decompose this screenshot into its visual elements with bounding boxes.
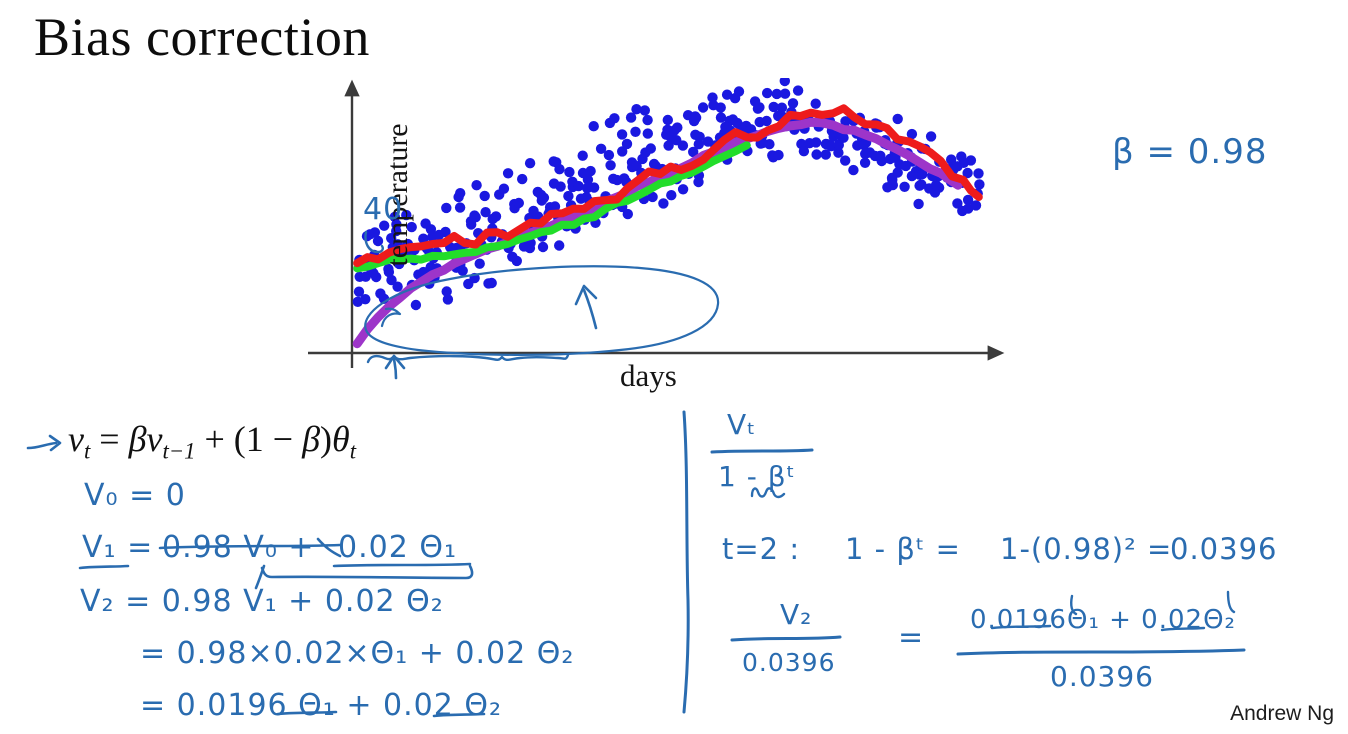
hand-final-lhs-denominator: 0.0396 xyxy=(742,648,835,677)
scatter-point xyxy=(619,173,629,183)
scatter-point xyxy=(693,177,703,187)
scatter-point xyxy=(585,166,595,176)
scatter-point xyxy=(537,195,547,205)
fraction-bar-vt xyxy=(712,450,812,452)
scatter-point xyxy=(499,184,509,194)
hand-final-rhs-denominator: 0.0396 xyxy=(1050,660,1154,693)
scatter-point xyxy=(517,174,527,184)
strikethrough-plus xyxy=(318,539,340,556)
scatter-point xyxy=(643,128,653,138)
scatter-point xyxy=(578,151,588,161)
hand-frac-vt-numerator: Vₜ xyxy=(727,408,756,441)
scatter-point xyxy=(728,114,738,124)
scatter-point xyxy=(698,102,708,112)
scatter-point xyxy=(811,149,821,159)
scatter-point xyxy=(761,116,771,126)
annotation-v-zero-label: 40 xyxy=(363,192,403,227)
scatter-point xyxy=(860,149,870,159)
scatter-point xyxy=(453,192,463,202)
scatter-point xyxy=(609,113,619,123)
hand-line-v1-struck-term: 0.98 V₀ + xyxy=(162,530,315,565)
scatter-point xyxy=(622,139,632,149)
scatter-point xyxy=(753,104,763,114)
hand-line-v2-expanded: = 0.98×0.02×Θ₁ + 0.02 Θ₂ xyxy=(140,636,574,671)
scatter-point xyxy=(788,98,798,108)
scatter-point xyxy=(443,294,453,304)
scatter-point xyxy=(899,182,909,192)
scatter-point xyxy=(678,140,688,150)
scatter-point xyxy=(793,85,803,95)
scatter-point xyxy=(455,202,465,212)
scatter-point xyxy=(780,78,790,86)
scatter-point xyxy=(642,115,652,125)
formula-text: vt = βvt−1 + (1 − β)θt xyxy=(68,419,356,459)
scatter-point xyxy=(971,200,981,210)
scatter-point xyxy=(678,184,688,194)
scatter-point xyxy=(914,181,924,191)
scatter-point xyxy=(360,294,370,304)
scatter-point xyxy=(859,140,869,150)
scatter-point xyxy=(875,151,885,161)
scatter-point xyxy=(514,198,524,208)
scatter-point xyxy=(931,180,941,190)
hand-line-v0: V₀ = 0 xyxy=(84,478,186,513)
hand-line-v1-lhs: V₁ = xyxy=(82,530,153,565)
scatter-point xyxy=(466,216,476,226)
scatter-point xyxy=(617,129,627,139)
scatter-point xyxy=(491,211,501,221)
scatter-point xyxy=(487,278,497,288)
fraction-bar-v2 xyxy=(732,637,840,640)
hand-line-v2: V₂ = 0.98 V₁ + 0.02 Θ₂ xyxy=(80,584,444,619)
fraction-bar-final xyxy=(958,650,1244,654)
scatter-point xyxy=(563,191,573,201)
annotation-v-zero-squiggle-icon xyxy=(360,228,400,262)
scatter-point xyxy=(512,256,522,266)
annotation-beta-value: β = 0.98 xyxy=(1112,132,1268,172)
scatter-point xyxy=(658,198,668,208)
vertical-divider xyxy=(684,412,688,712)
scatter-point xyxy=(893,114,903,124)
scatter-point xyxy=(475,259,485,269)
scatter-point xyxy=(555,181,565,191)
page-title: Bias correction xyxy=(34,6,370,68)
hand-t-case-label: t=2 : xyxy=(722,532,800,566)
slide-canvas: Bias correction temperature days xyxy=(0,0,1348,734)
scatter-point xyxy=(480,191,490,201)
scatter-point xyxy=(623,209,633,219)
scatter-point xyxy=(646,143,656,153)
formula-update-rule: vt = βvt−1 + (1 − β)θt xyxy=(68,418,356,464)
scatter-point xyxy=(549,156,559,166)
scatter-point xyxy=(694,139,704,149)
scatter-point xyxy=(773,150,783,160)
scatter-point xyxy=(605,160,615,170)
scatter-point xyxy=(840,155,850,165)
scatter-point xyxy=(973,168,983,178)
up-arrow-shaft xyxy=(394,358,396,378)
x-axis-label: days xyxy=(620,358,677,394)
scatter-point xyxy=(626,112,636,122)
scatter-point xyxy=(690,111,700,121)
hand-line-v2-result: = 0.0196 Θ₁ + 0.02 Θ₂ xyxy=(140,688,502,723)
hand-t-case-substitution: 1-(0.98)² = xyxy=(1000,532,1172,566)
arrow-to-formula-icon xyxy=(26,432,70,458)
scatter-point xyxy=(780,89,790,99)
hand-final-lhs-numerator: V₂ xyxy=(780,598,812,631)
scatter-point xyxy=(525,158,535,168)
scatter-point xyxy=(503,168,513,178)
scatter-point xyxy=(716,102,726,112)
scatter-point xyxy=(762,88,772,98)
hand-t-case-value: 0.0396 xyxy=(1170,532,1277,566)
scatter-point xyxy=(589,121,599,131)
scatter-point xyxy=(669,125,679,135)
scatter-point xyxy=(441,203,451,213)
scatter-point xyxy=(690,130,700,140)
scatter-point xyxy=(538,242,548,252)
scatter-point xyxy=(554,240,564,250)
connector-substitution xyxy=(262,566,472,578)
scatter-point xyxy=(882,182,892,192)
scatter-point xyxy=(471,180,481,190)
scatter-point xyxy=(811,137,821,147)
hand-final-equals-sign: = xyxy=(898,620,924,655)
hand-frac-vt-denominator: 1 - βᵗ xyxy=(718,460,796,493)
scatter-points xyxy=(353,78,985,310)
scatter-point xyxy=(458,266,468,276)
scatter-point xyxy=(640,105,650,115)
scatter-point xyxy=(666,190,676,200)
scatter-point xyxy=(604,150,614,160)
hand-t-case-expression: 1 - βᵗ = xyxy=(845,532,961,566)
hand-line-v1-rhs: 0.02 Θ₁ xyxy=(338,530,457,565)
scatter-point xyxy=(463,279,473,289)
scatter-point xyxy=(811,99,821,109)
underline-v1 xyxy=(80,566,128,568)
scatter-point xyxy=(926,131,936,141)
scatter-point xyxy=(630,127,640,137)
scatter-point xyxy=(848,165,858,175)
scatter-point xyxy=(974,179,984,189)
scatter-point xyxy=(959,158,969,168)
scatter-point xyxy=(663,115,673,125)
scatter-point xyxy=(946,154,956,164)
hand-final-rhs-numerator: 0.0196Θ₁ + 0.02Θ₂ xyxy=(970,605,1236,635)
scatter-point xyxy=(860,158,870,168)
scatter-point xyxy=(564,167,574,177)
author-signature: Andrew Ng xyxy=(1230,702,1334,726)
scatter-point xyxy=(777,103,787,113)
scatter-point xyxy=(913,199,923,209)
scatter-point xyxy=(734,86,744,96)
